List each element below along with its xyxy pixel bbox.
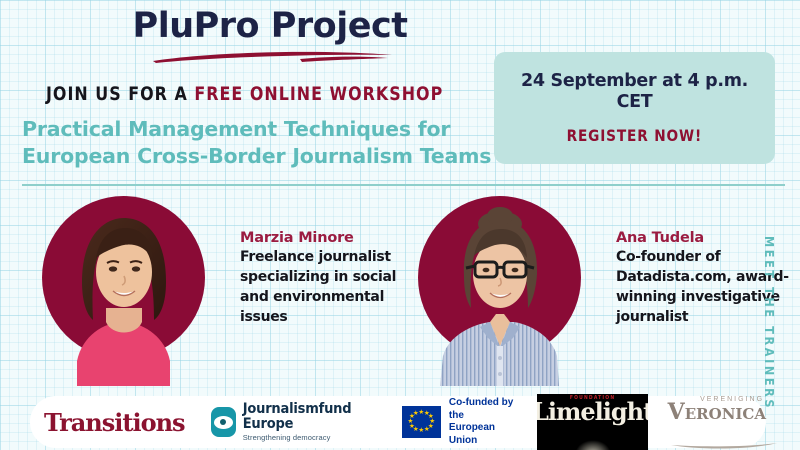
kicker-plain-text: JOIN US FOR A: [46, 83, 194, 105]
logo-limelight-name: Limelight: [537, 401, 647, 424]
title-underline-swoosh: [150, 48, 395, 64]
logo-vereniging-veronica[interactable]: VERENIGING Veronica: [668, 396, 766, 448]
logo-veronica-name: Veronica: [668, 401, 766, 423]
section-divider: [22, 184, 785, 186]
avatar: [418, 196, 581, 386]
subtitle-line-2: European Cross-Border Journalism Teams: [22, 143, 522, 170]
eye-icon: [211, 407, 236, 437]
trainer-photo-2: [418, 196, 581, 386]
eu-text-line-2: European Union: [449, 422, 518, 447]
event-datetime: 24 September at 4 p.m. CET: [494, 71, 775, 113]
logo-jfe-tagline: Strengthening democracy: [243, 434, 380, 442]
workshop-kicker: JOIN US FOR A FREE ONLINE WORKSHOP: [46, 83, 474, 105]
veronica-swash: [670, 441, 778, 450]
kicker-highlight-text: FREE ONLINE WORKSHOP: [194, 83, 443, 105]
poster-title-block: PluPro Project: [0, 8, 540, 45]
eu-text-line-1: Co-funded by the: [449, 397, 518, 422]
workshop-promo-poster: PluPro Project JOIN US FOR A FREE ONLINE…: [0, 0, 800, 450]
partner-logo-bar: Transitions Journalismfund Europe Streng…: [30, 396, 766, 448]
limelight-glow: [575, 440, 611, 450]
logo-journalismfund-europe[interactable]: Journalismfund Europe Strengthening demo…: [211, 396, 380, 448]
logo-jfe-name: Journalismfund Europe: [243, 402, 380, 431]
logo-transitions[interactable]: Transitions: [44, 396, 185, 448]
trainer-bio-1: Marzia Minore Freelance journalist speci…: [240, 229, 415, 328]
trainer-role: Freelance journalist specializing in soc…: [240, 248, 415, 328]
event-info-card: 24 September at 4 p.m. CET REGISTER NOW!: [494, 52, 775, 164]
page-title: PluPro Project: [0, 8, 540, 45]
workshop-subtitle: Practical Management Techniques for Euro…: [22, 116, 522, 170]
subtitle-line-1: Practical Management Techniques for: [22, 116, 522, 143]
logo-european-union[interactable]: ★ ★ ★ ★ ★ ★ ★ ★ ★ ★ ★ ★ Co-funded by the…: [402, 396, 518, 448]
trainer-name: Marzia Minore: [240, 229, 415, 247]
logo-limelight-foundation[interactable]: FOUNDATION Limelight: [537, 394, 647, 450]
meet-the-trainers-label: MEET THE TRAINERS: [762, 236, 777, 410]
avatar: [42, 196, 205, 386]
register-now-label[interactable]: REGISTER NOW!: [567, 126, 703, 145]
trainer-photo-1: [42, 196, 205, 386]
eu-flag-icon: ★ ★ ★ ★ ★ ★ ★ ★ ★ ★ ★ ★: [402, 406, 441, 438]
